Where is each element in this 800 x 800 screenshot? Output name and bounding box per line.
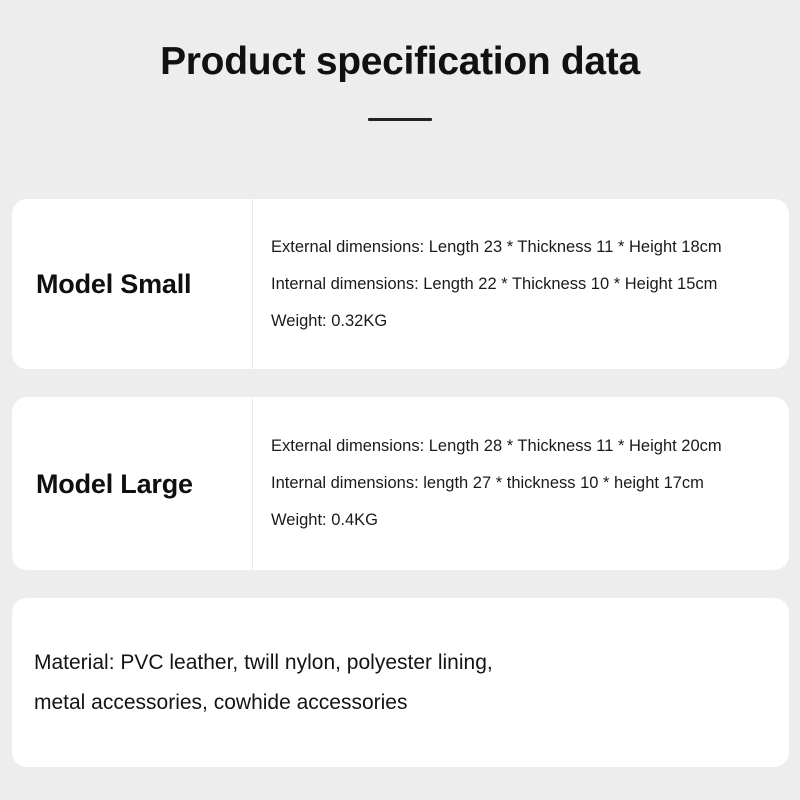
material-text: Material: PVC leather, twill nylon, poly… xyxy=(34,643,504,723)
detail-weight: Weight: 0.32KG xyxy=(271,303,777,340)
spec-card-model-large: Model Large External dimensions: Length … xyxy=(12,397,789,570)
model-label: Model Large xyxy=(36,468,193,500)
model-label: Model Small xyxy=(36,268,191,300)
model-name-cell: Model Small xyxy=(12,199,253,369)
detail-weight: Weight: 0.4KG xyxy=(271,502,777,539)
page-title: Product specification data xyxy=(0,38,800,86)
model-detail-cell: External dimensions: Length 23 * Thickne… xyxy=(253,199,789,369)
spec-card-material: Material: PVC leather, twill nylon, poly… xyxy=(12,598,789,767)
title-underline-wrap xyxy=(0,118,800,121)
title-underline-rule xyxy=(368,118,432,121)
detail-internal-dimensions: Internal dimensions: length 27 * thickne… xyxy=(271,465,777,502)
model-name-cell: Model Large xyxy=(12,397,253,570)
spec-card-stack: Model Small External dimensions: Length … xyxy=(12,199,789,767)
detail-external-dimensions: External dimensions: Length 28 * Thickne… xyxy=(271,428,777,465)
detail-external-dimensions: External dimensions: Length 23 * Thickne… xyxy=(271,229,777,266)
spec-card-model-small: Model Small External dimensions: Length … xyxy=(12,199,789,369)
page-header: Product specification data xyxy=(0,0,800,121)
detail-internal-dimensions: Internal dimensions: Length 22 * Thickne… xyxy=(271,266,777,303)
model-detail-cell: External dimensions: Length 28 * Thickne… xyxy=(253,397,789,570)
